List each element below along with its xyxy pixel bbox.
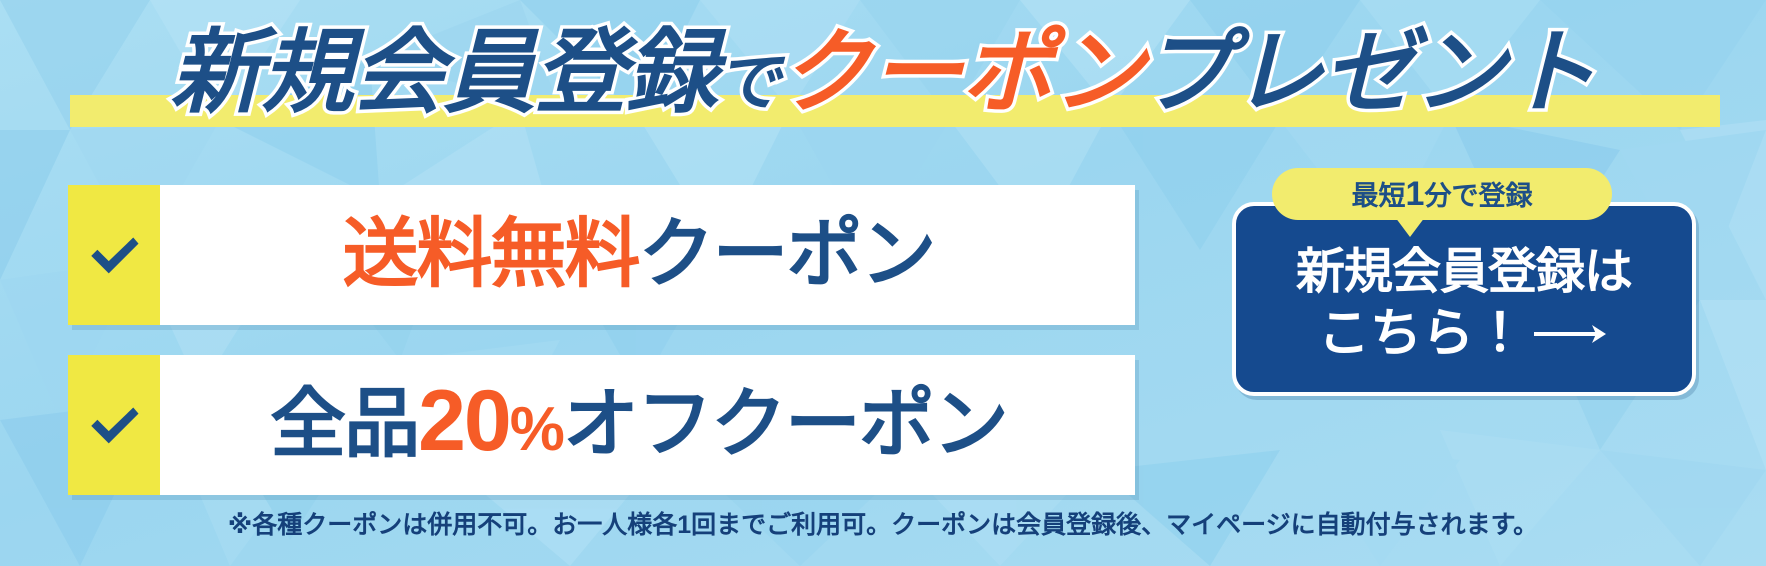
coupon-2-rest: オフクーポン <box>563 382 1007 467</box>
coupon-label-2: 全品20%オフクーポン <box>160 351 1135 500</box>
headline-particle-de: で <box>716 46 779 118</box>
check-icon <box>86 397 142 453</box>
cta-badge-pointer <box>1395 217 1425 237</box>
headline-block: 新規会員登録でクーポンプレゼント <box>0 14 1766 134</box>
promo-banner: 新規会員登録でクーポンプレゼント 送料無料クーポン 全品20%オフクーポン 最短… <box>0 0 1766 566</box>
check-tab <box>68 355 160 495</box>
cta-line-1: 新規会員登録は <box>1296 242 1632 302</box>
cta-line-2-text: こちら！ <box>1318 302 1526 366</box>
headline-part1: 新規会員登録 <box>170 22 716 124</box>
coupon-2-number: 20 <box>418 373 510 469</box>
coupon-label-1: 送料無料クーポン <box>160 185 1135 325</box>
cta-badge-number: 1 <box>1406 175 1425 213</box>
fineprint-note: ※各種クーポンは併用不可。お一人様各1回までご利用可。クーポンは会員登録後、マイ… <box>0 505 1766 541</box>
coupon-2-percent-sign: % <box>510 395 563 464</box>
cta-badge-text: 最短1分で登録 <box>1352 174 1533 214</box>
coupon-2-prefix: 全品 <box>270 382 418 467</box>
cta-line-2: こちら！ <box>1318 302 1610 366</box>
headline-text: 新規会員登録でクーポンプレゼント <box>0 14 1766 141</box>
headline-part2: クーポン <box>779 22 1140 124</box>
signup-cta-button[interactable]: 新規会員登録は こちら！ <box>1232 202 1696 396</box>
coupon-row-free-shipping: 送料無料クーポン <box>68 185 1135 325</box>
cta-badge-suffix: 分で登録 <box>1424 181 1532 211</box>
cta-block: 最短1分で登録 新規会員登録は こちら！ <box>1232 168 1702 408</box>
coupon-row-20-percent-off: 全品20%オフクーポン <box>68 355 1135 495</box>
check-icon <box>86 227 142 283</box>
headline-part3: プレゼント <box>1141 22 1596 124</box>
check-tab <box>68 185 160 325</box>
coupon-1-rest: クーポン <box>639 212 935 297</box>
cta-badge-prefix: 最短 <box>1352 181 1406 211</box>
coupon-1-highlight: 送料無料 <box>343 212 639 297</box>
cta-badge: 最短1分で登録 <box>1272 168 1612 220</box>
arrow-right-icon <box>1532 321 1610 347</box>
